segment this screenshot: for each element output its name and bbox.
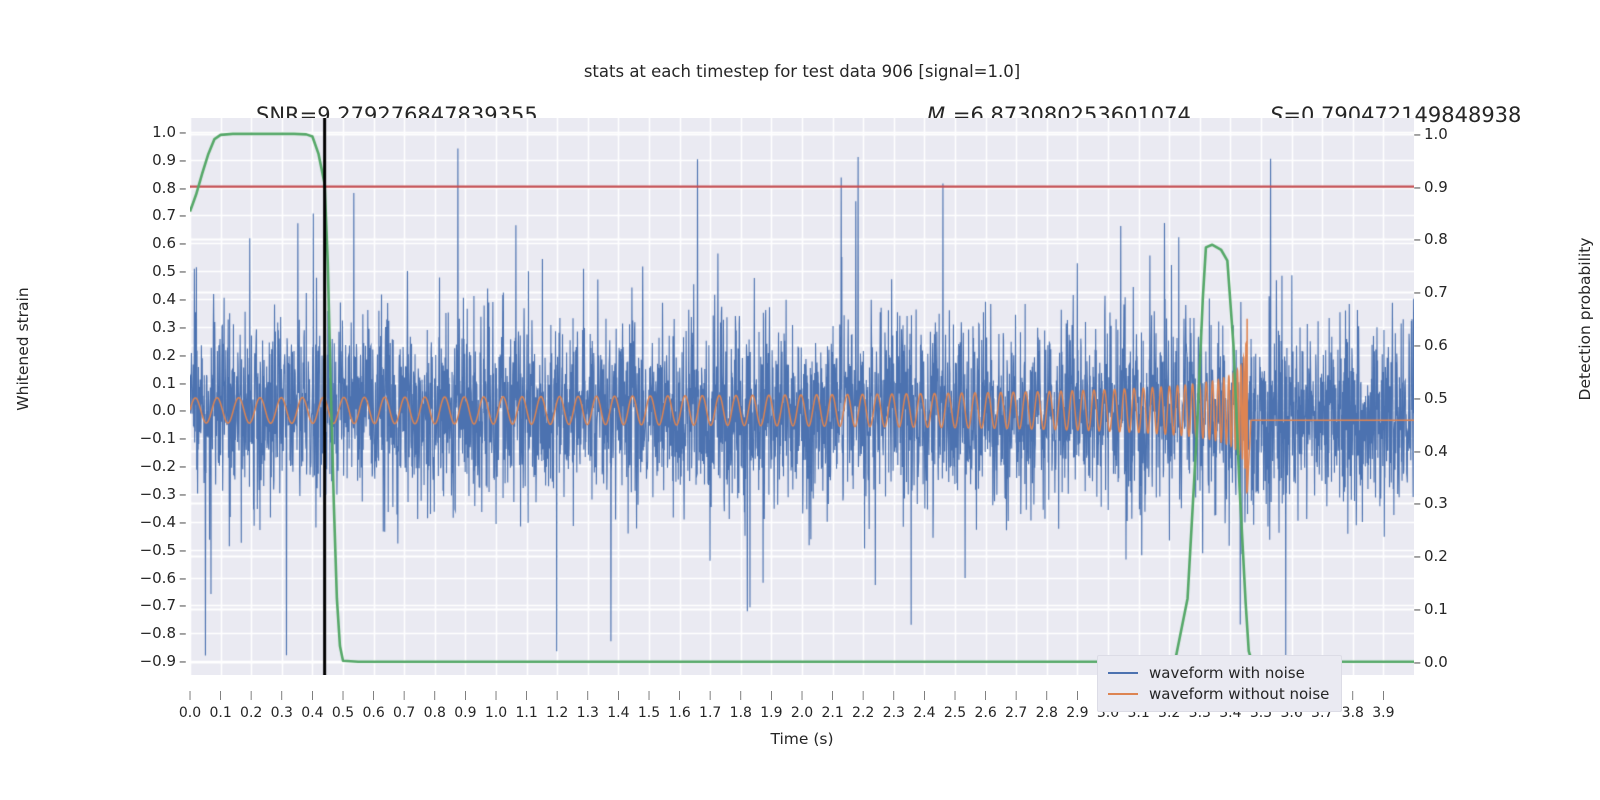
tick-mark: – [1414, 230, 1422, 248]
x-axis-label: Time (s) [190, 730, 1414, 748]
tick-mark: – [179, 457, 187, 475]
tick-mark: | [770, 691, 773, 701]
tick-mark: – [179, 123, 187, 141]
legend-swatch-icon [1108, 672, 1138, 674]
tick-mark: – [179, 429, 187, 447]
tick-mark: | [800, 691, 803, 701]
y-tick-left: −0.9– [140, 652, 176, 670]
y-tick-left: 0.4– [152, 290, 176, 308]
x-tick: 1.0| [485, 705, 507, 721]
tick-mark: – [1414, 283, 1422, 301]
tick-mark: – [179, 374, 187, 392]
y-tick-right: 0.8– [1424, 230, 1448, 248]
x-tick: 0.2| [240, 705, 262, 721]
x-tick: 2.1| [821, 705, 843, 721]
tick-mark: | [1015, 691, 1018, 701]
x-tick: 1.2| [546, 705, 568, 721]
y-tick-right: 0.3– [1424, 494, 1448, 512]
x-tick: 2.7| [1005, 705, 1027, 721]
tick-mark: | [953, 691, 956, 701]
tick-mark: – [179, 179, 187, 197]
x-tick: 1.7| [699, 705, 721, 721]
y-tick-left: 0.1– [152, 374, 176, 392]
x-tick: 2.9| [1066, 705, 1088, 721]
tick-mark: | [862, 691, 865, 701]
y-tick-left: −0.8– [140, 624, 176, 642]
tick-mark: – [1414, 653, 1422, 671]
y-tick-left: 0.3– [152, 318, 176, 336]
chart-title: stats at each timestep for test data 906… [190, 62, 1414, 81]
y-tick-left: −0.1– [140, 429, 176, 447]
plot-area [190, 118, 1414, 675]
y-tick-left: 0.6– [152, 234, 176, 252]
tick-mark: – [179, 346, 187, 364]
tick-mark: | [831, 691, 834, 701]
tick-mark: | [678, 691, 681, 701]
y-tick-left: 0.8– [152, 179, 176, 197]
x-tick: 2.3| [883, 705, 905, 721]
x-tick: 0.8| [424, 705, 446, 721]
tick-mark: – [179, 652, 187, 670]
legend-swatch-icon [1108, 693, 1138, 695]
y-tick-left: −0.5– [140, 541, 176, 559]
tick-mark: | [311, 691, 314, 701]
x-tick: 0.0| [179, 705, 201, 721]
y-axis-left-label: Whitened strain [14, 269, 32, 429]
tick-mark: | [280, 691, 283, 701]
y-tick-right: 0.5– [1424, 389, 1448, 407]
tick-mark: – [179, 318, 187, 336]
x-tick: 0.6| [362, 705, 384, 721]
x-tick: 1.8| [730, 705, 752, 721]
y-tick-left: −0.6– [140, 569, 176, 587]
y-tick-left: 0.7– [152, 206, 176, 224]
tick-mark: – [179, 401, 187, 419]
tick-mark: | [1351, 691, 1354, 701]
tick-mark: – [1414, 336, 1422, 354]
y-tick-left: −0.7– [140, 596, 176, 614]
y-tick-left: 0.5– [152, 262, 176, 280]
tick-mark: – [179, 234, 187, 252]
y-tick-right: 0.6– [1424, 336, 1448, 354]
tick-mark: | [1382, 691, 1385, 701]
tick-mark: – [179, 541, 187, 559]
tick-mark: – [1414, 442, 1422, 460]
x-tick: 1.4| [607, 705, 629, 721]
tick-mark: | [1076, 691, 1079, 701]
y-tick-right: 0.1– [1424, 600, 1448, 618]
tick-mark: – [179, 569, 187, 587]
tick-mark: | [188, 691, 191, 701]
tick-mark: | [617, 691, 620, 701]
legend-label: waveform with noise [1149, 664, 1305, 682]
x-tick: 0.5| [332, 705, 354, 721]
tick-mark: | [923, 691, 926, 701]
x-tick: 2.5| [944, 705, 966, 721]
tick-mark: – [179, 596, 187, 614]
x-tick: 1.5| [638, 705, 660, 721]
tick-mark: | [341, 691, 344, 701]
x-tick: 2.4| [913, 705, 935, 721]
tick-mark: – [179, 206, 187, 224]
y-tick-left: 0.9– [152, 151, 176, 169]
x-tick: 0.4| [301, 705, 323, 721]
tick-mark: | [250, 691, 253, 701]
x-tick: 3.8| [1342, 705, 1364, 721]
x-tick: 0.1| [209, 705, 231, 721]
y-tick-left: −0.2– [140, 457, 176, 475]
legend-item[interactable]: waveform with noise [1108, 662, 1329, 683]
tick-mark: – [179, 262, 187, 280]
tick-mark: | [494, 691, 497, 701]
x-tick: 1.6| [668, 705, 690, 721]
legend: waveform with noisewaveform without nois… [1097, 655, 1342, 712]
tick-mark: – [179, 290, 187, 308]
tick-mark: | [739, 691, 742, 701]
tick-mark: | [433, 691, 436, 701]
plot-canvas [190, 118, 1414, 675]
tick-mark: | [892, 691, 895, 701]
tick-mark: | [709, 691, 712, 701]
x-tick: 1.9| [760, 705, 782, 721]
x-tick: 2.8| [1036, 705, 1058, 721]
y-tick-left: 0.0– [152, 401, 176, 419]
tick-mark: | [586, 691, 589, 701]
tick-mark: | [219, 691, 222, 701]
x-tick: 2.0| [791, 705, 813, 721]
tick-mark: – [179, 485, 187, 503]
x-tick: 1.3| [577, 705, 599, 721]
y-tick-left: −0.4– [140, 513, 176, 531]
tick-mark: | [403, 691, 406, 701]
x-tick: 2.6| [974, 705, 996, 721]
tick-mark: – [179, 513, 187, 531]
tick-mark: – [179, 151, 187, 169]
chart-figure: stats at each timestep for test data 906… [0, 0, 1600, 800]
tick-mark: – [1414, 178, 1422, 196]
legend-item[interactable]: waveform without noise [1108, 683, 1329, 704]
tick-mark: | [464, 691, 467, 701]
y-tick-right: 0.4– [1424, 442, 1448, 460]
y-tick-right: 0.2– [1424, 547, 1448, 565]
x-tick: 0.9| [454, 705, 476, 721]
tick-mark: | [984, 691, 987, 701]
tick-mark: | [372, 691, 375, 701]
x-tick: 2.2| [852, 705, 874, 721]
tick-mark: – [1414, 494, 1422, 512]
tick-mark: | [647, 691, 650, 701]
y-tick-left: 0.2– [152, 346, 176, 364]
x-tick: 0.3| [271, 705, 293, 721]
y-tick-right: 0.0– [1424, 653, 1448, 671]
y-axis-right-label: Detection probability [1576, 214, 1594, 424]
y-tick-right: 1.0– [1424, 125, 1448, 143]
tick-mark: – [1414, 389, 1422, 407]
x-tick: 3.9| [1372, 705, 1394, 721]
y-tick-left: −0.3– [140, 485, 176, 503]
y-tick-left: 1.0– [152, 123, 176, 141]
tick-mark: – [179, 624, 187, 642]
tick-mark: – [1414, 125, 1422, 143]
tick-mark: | [525, 691, 528, 701]
legend-label: waveform without noise [1149, 685, 1329, 703]
y-tick-right: 0.9– [1424, 178, 1448, 196]
tick-mark: – [1414, 547, 1422, 565]
x-tick: 0.7| [393, 705, 415, 721]
x-tick: 1.1| [515, 705, 537, 721]
tick-mark: – [1414, 600, 1422, 618]
y-tick-right: 0.7– [1424, 283, 1448, 301]
tick-mark: | [1045, 691, 1048, 701]
tick-mark: | [556, 691, 559, 701]
